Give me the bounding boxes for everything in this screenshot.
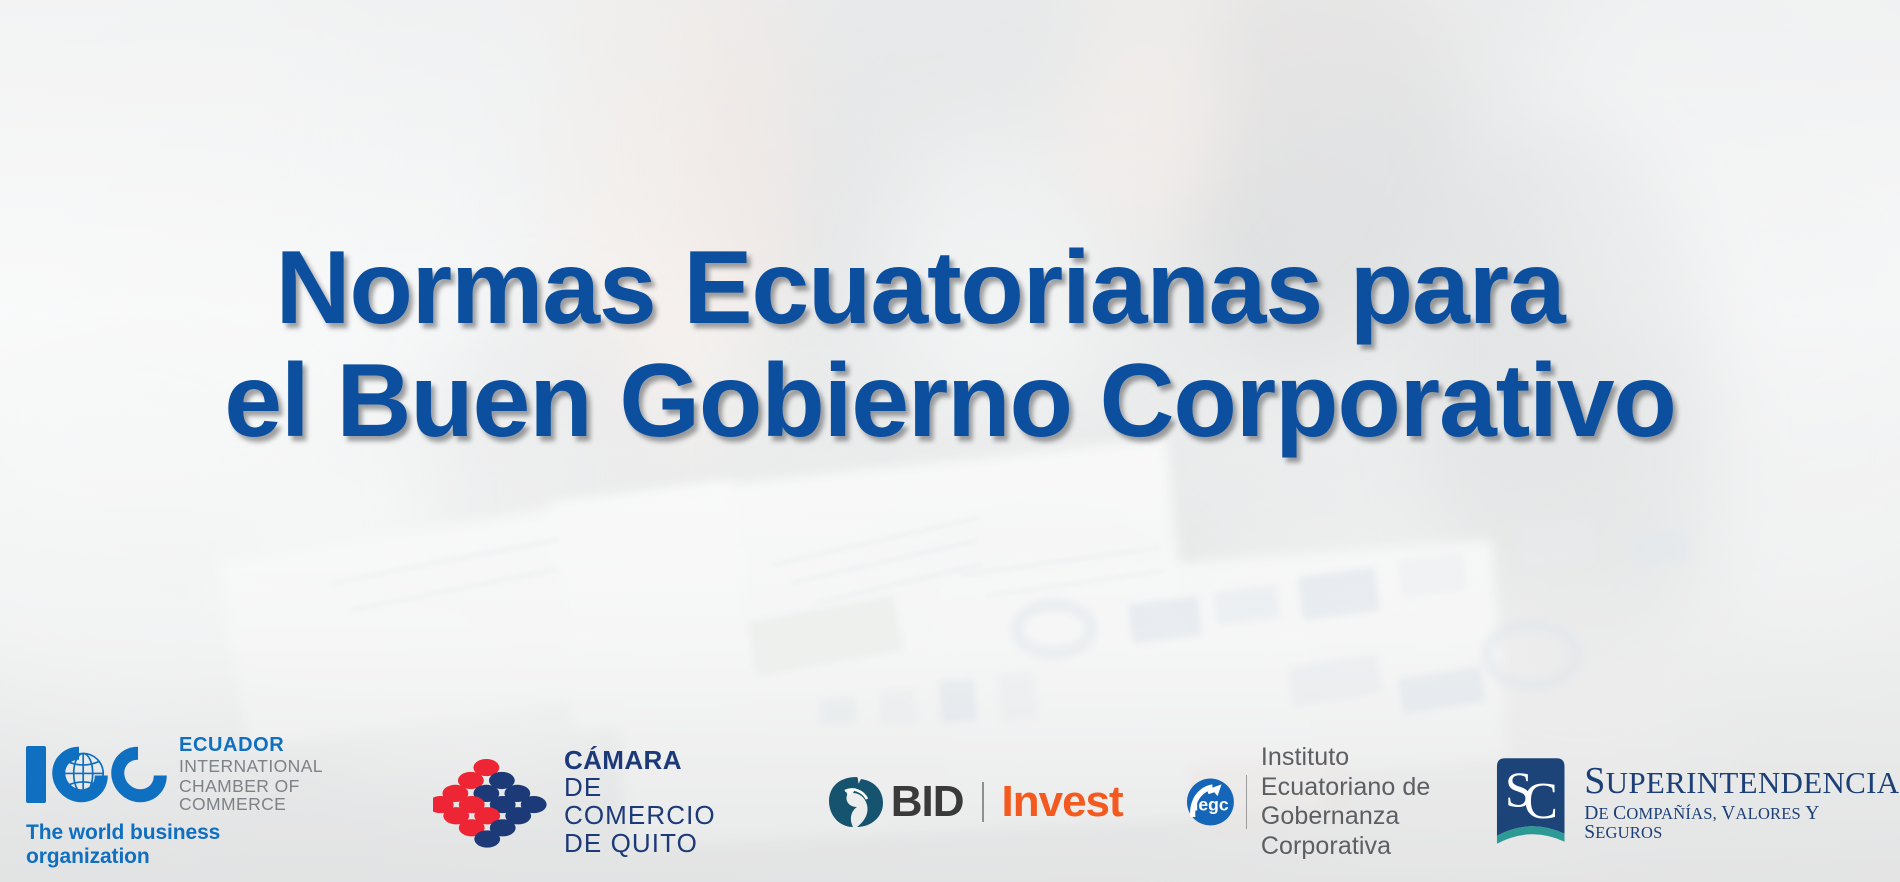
globe-icon bbox=[56, 746, 110, 800]
invest-wordmark: Invest bbox=[1002, 777, 1123, 827]
logo-superintendencia: S C SUPERINTENDENCIA DE COMPAÑÍAS, VALOR… bbox=[1491, 756, 1900, 848]
ccq-line-quito: DE QUITO bbox=[564, 830, 735, 858]
icc-wordmark: ECUADOR INTERNATIONAL CHAMBER OF COMMERC… bbox=[179, 735, 323, 814]
title-line-1: Normas Ecuatorianas para bbox=[28, 232, 1872, 345]
iegc-divider bbox=[1246, 775, 1247, 829]
icc-mark-icon bbox=[26, 746, 166, 803]
iegc-circle-arrow-icon: iegc bbox=[1185, 763, 1236, 841]
ccq-wordmark: CÁMARA DE COMERCIO DE QUITO bbox=[564, 747, 735, 857]
logo-camara-comercio-quito: CÁMARA DE COMERCIO DE QUITO bbox=[433, 747, 735, 857]
logo-iegc: iegc Instituto Ecuatoriano de Gobernanza… bbox=[1185, 743, 1441, 861]
icc-letter-i-icon bbox=[26, 746, 46, 803]
title-line-2: el Buen Gobierno Corporativo bbox=[28, 345, 1872, 458]
superintendencia-line-2: DE COMPAÑÍAS, VALORES Y SEGUROS bbox=[1584, 804, 1900, 843]
icc-line-ecuador: ECUADOR bbox=[179, 735, 323, 755]
icc-line-international: INTERNATIONAL bbox=[179, 758, 323, 776]
sponsor-logo-strip: ECUADOR INTERNATIONAL CHAMBER OF COMMERC… bbox=[0, 722, 1900, 882]
svg-text:iegc: iegc bbox=[1193, 794, 1228, 814]
page-title: Normas Ecuatorianas para el Buen Gobiern… bbox=[0, 232, 1900, 458]
logo-bid-invest: BID Invest bbox=[827, 775, 1123, 829]
iegc-line-2: Gobernanza Corporativa bbox=[1261, 802, 1441, 861]
bid-leaf-icon bbox=[827, 775, 885, 829]
icc-tagline: The world business organization bbox=[26, 821, 323, 869]
icc-letter-c-icon bbox=[100, 735, 178, 813]
superintendencia-sc-badge-icon: S C bbox=[1491, 756, 1570, 848]
icc-letter-c-globe-icon bbox=[41, 735, 119, 813]
superintendencia-line-1: SUPERINTENDENCIA bbox=[1584, 762, 1900, 800]
iegc-wordmark: Instituto Ecuatoriano de Gobernanza Corp… bbox=[1261, 743, 1441, 861]
bid-divider bbox=[982, 782, 984, 822]
icc-line-chamber: CHAMBER OF COMMERCE bbox=[179, 778, 323, 813]
banner: Normas Ecuatorianas para el Buen Gobiern… bbox=[0, 0, 1900, 882]
bid-wordmark: BID bbox=[891, 777, 964, 827]
ccq-diamond-dots-icon bbox=[433, 750, 550, 854]
logo-icc: ECUADOR INTERNATIONAL CHAMBER OF COMMERC… bbox=[26, 735, 323, 870]
ccq-line-comercio: DE COMERCIO bbox=[564, 774, 735, 829]
iegc-line-1: Instituto Ecuatoriano de bbox=[1261, 743, 1441, 802]
superintendencia-wordmark: SUPERINTENDENCIA DE COMPAÑÍAS, VALORES Y… bbox=[1584, 762, 1900, 843]
icc-lockup: ECUADOR INTERNATIONAL CHAMBER OF COMMERC… bbox=[26, 735, 323, 814]
svg-text:C: C bbox=[1523, 773, 1557, 830]
ccq-line-camara: CÁMARA bbox=[564, 747, 735, 775]
